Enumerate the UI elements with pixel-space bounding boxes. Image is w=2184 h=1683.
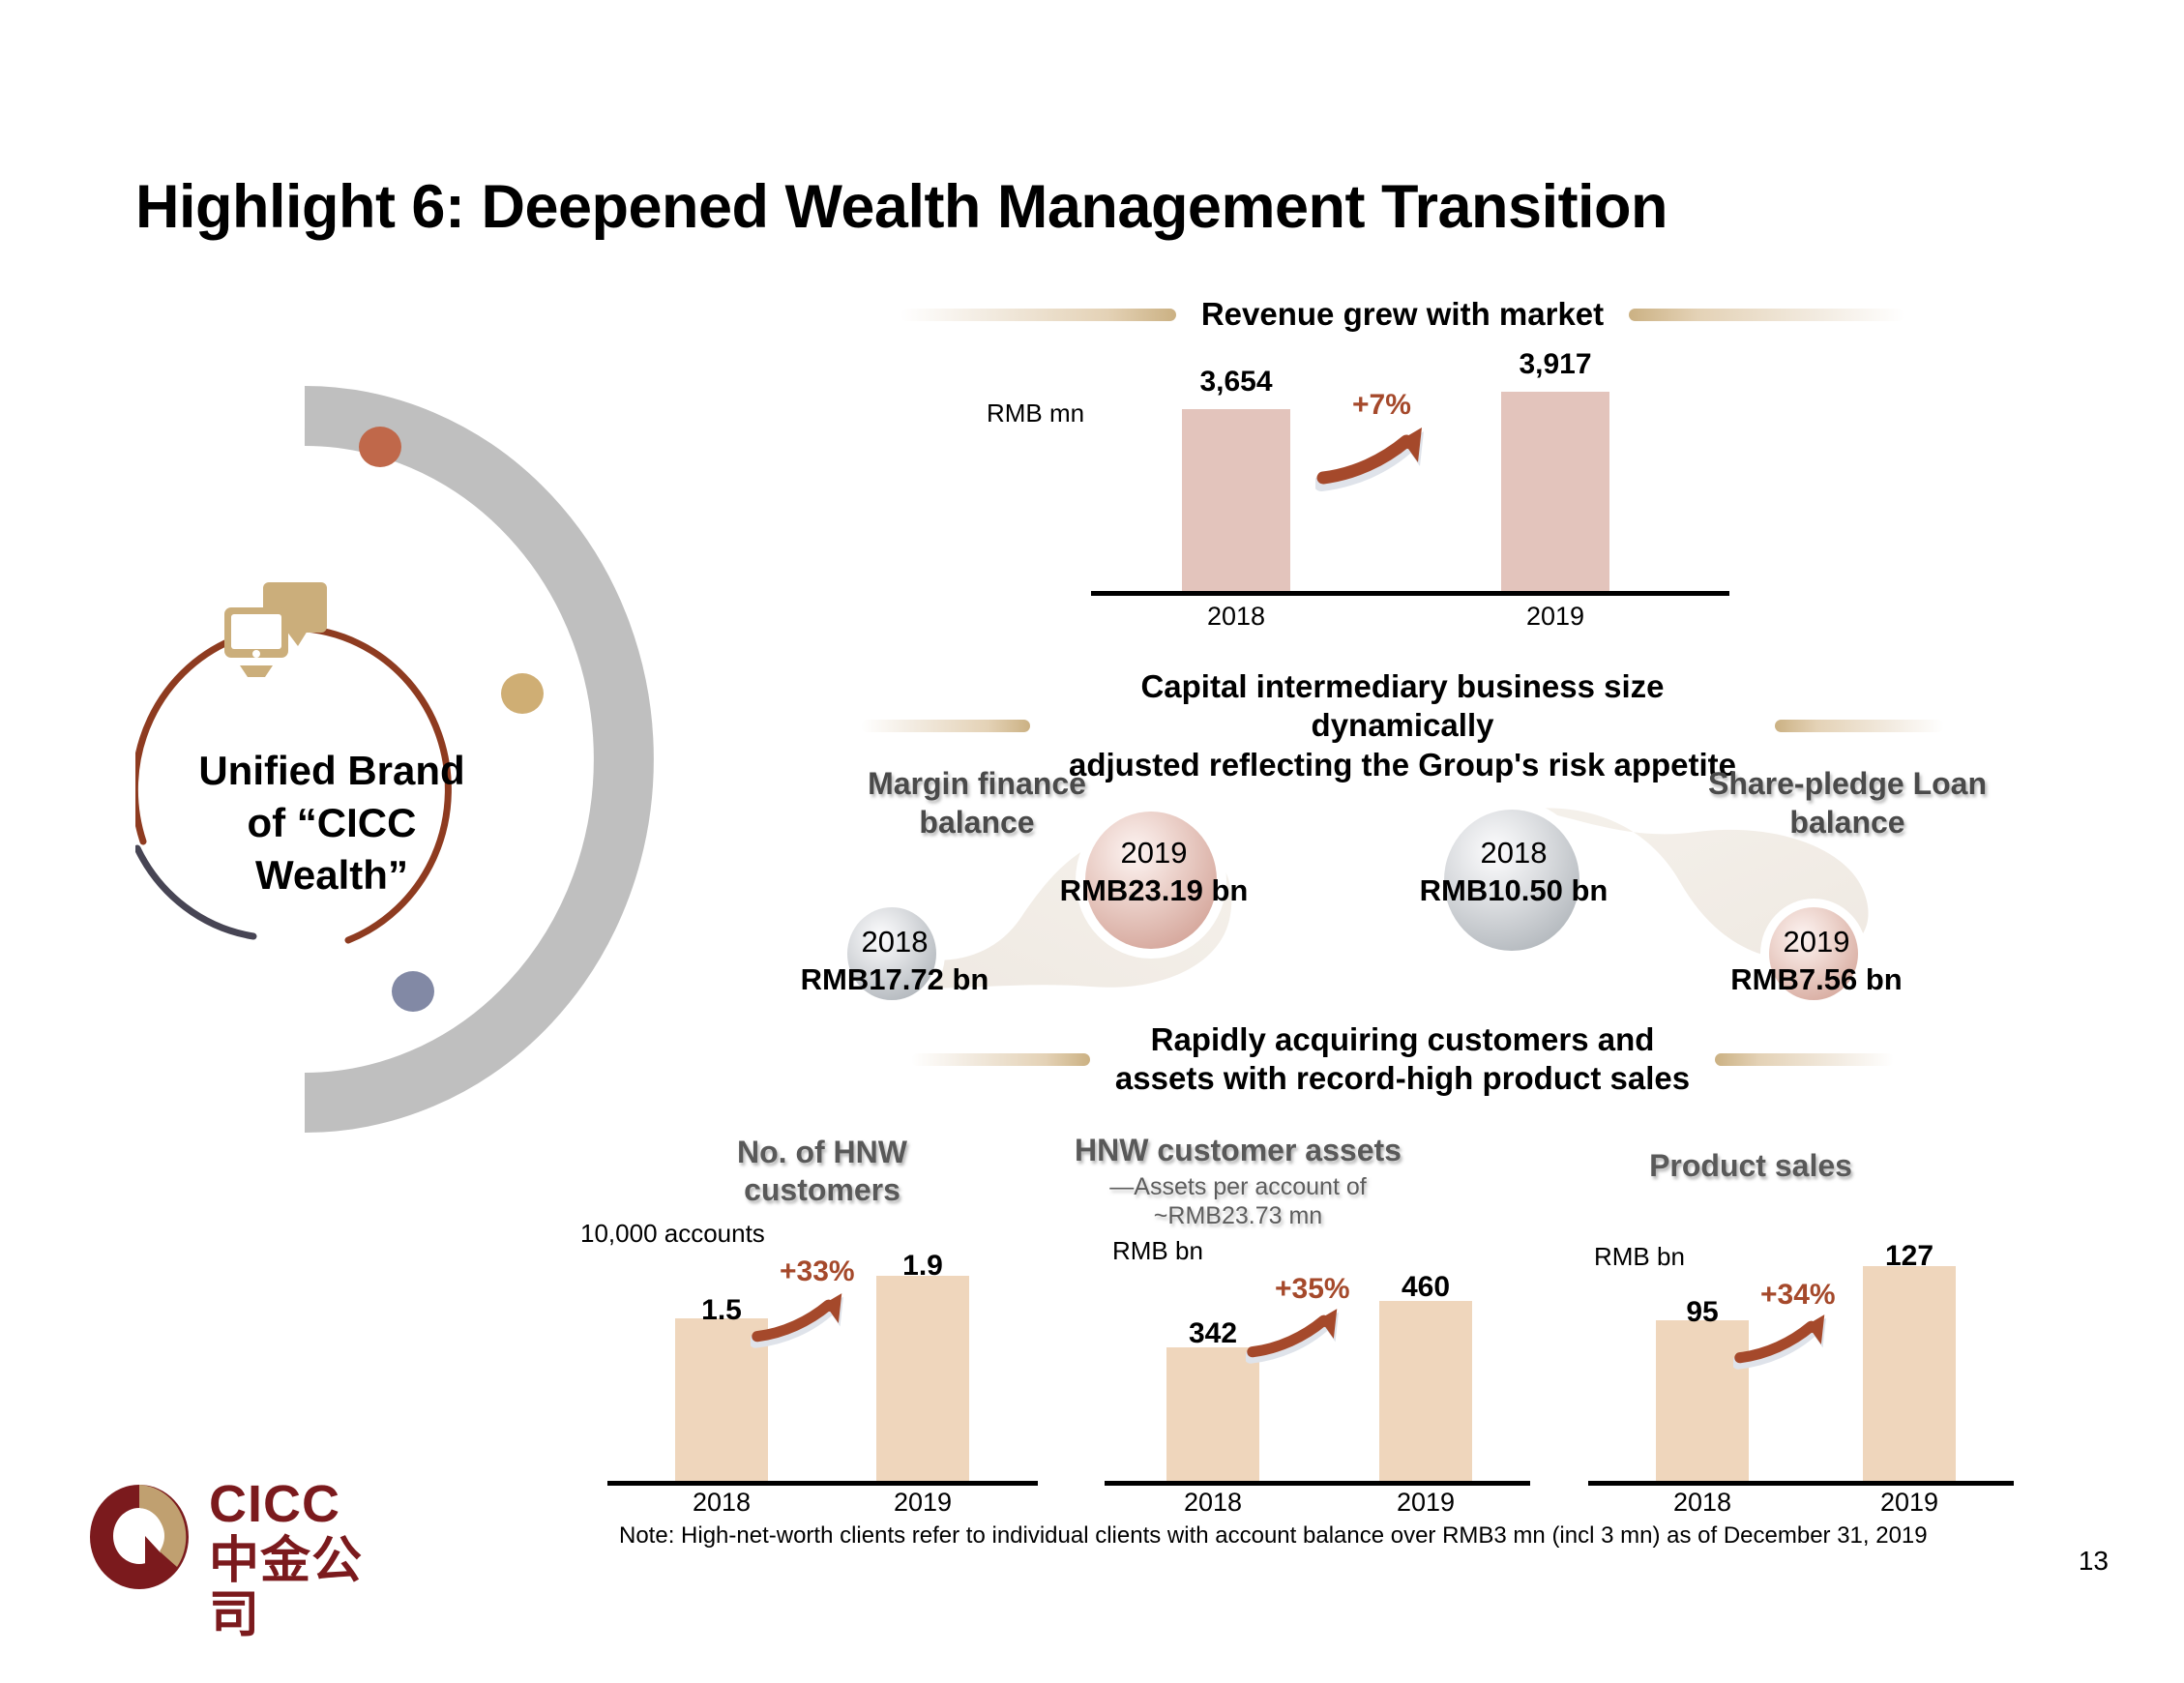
dumbbell-caption-margin-2019: 2019 RMB23.19 bn bbox=[994, 834, 1313, 909]
dumbbell-caption-pledge-2019: 2019 RMB7.56 bn bbox=[1657, 923, 1976, 998]
mini-title-hnw-customers: No. of HNW customers bbox=[677, 1134, 967, 1209]
dumbbell-value-pledge-2019: RMB7.56 bn bbox=[1657, 960, 1976, 998]
mini-subtitle-hnw-assets: —Assets per account of ~RMB23.73 mn bbox=[1054, 1172, 1422, 1230]
dumbbell-caption-margin-2018: 2018 RMB17.72 bn bbox=[735, 923, 1054, 998]
slide-canvas: Highlight 6: Deepened Wealth Management … bbox=[0, 0, 2184, 1683]
growth-arrow-icon-product-sales bbox=[1733, 1310, 1849, 1379]
bar-hnw-customers-2019 bbox=[876, 1276, 969, 1481]
axis-baseline-hnw-customers bbox=[607, 1481, 1038, 1486]
dumbbell-value-pledge-2018: RMB10.50 bn bbox=[1354, 871, 1673, 909]
page-title: Highlight 6: Deepened Wealth Management … bbox=[135, 172, 1668, 242]
cat-label-revenue-2019: 2019 bbox=[1478, 602, 1633, 632]
deco-bar-right-icon bbox=[1775, 720, 1944, 732]
section-title-customers: Rapidly acquiring customers and assets w… bbox=[1090, 1020, 1715, 1099]
dumbbell-year-pledge-2018: 2018 bbox=[1354, 834, 1673, 871]
chart-revenue: RMB mn 3,654 2018 +7% 3,917 2019 bbox=[977, 348, 1857, 638]
mini-title-product-sales: Product sales bbox=[1567, 1147, 1934, 1185]
section-header-revenue: Revenue grew with market bbox=[861, 295, 1944, 334]
footnote: Note: High-net-worth clients refer to in… bbox=[619, 1522, 1928, 1550]
growth-arrow-icon-hnw-assets bbox=[1246, 1304, 1362, 1373]
arc-dot-blue bbox=[392, 971, 434, 1012]
axis-baseline-revenue bbox=[1091, 591, 1729, 596]
section-header-customers: Rapidly acquiring customers and assets w… bbox=[861, 1020, 1944, 1099]
growth-label-revenue: +7% bbox=[1352, 389, 1411, 422]
cat-label-hnw-assets-2018: 2018 bbox=[1136, 1488, 1290, 1518]
cat-label-hnw-customers-2019: 2019 bbox=[845, 1488, 1000, 1518]
bar-value-hnw-assets-2019: 460 bbox=[1348, 1271, 1503, 1304]
dumbbell-value-margin-2019: RMB23.19 bn bbox=[994, 871, 1313, 909]
axis-baseline-hnw-assets bbox=[1105, 1481, 1530, 1486]
dumbbell-year-margin-2018: 2018 bbox=[735, 923, 1054, 960]
bar-revenue-2018 bbox=[1182, 409, 1290, 591]
page-number: 13 bbox=[2079, 1546, 2109, 1577]
cat-label-hnw-assets-2019: 2019 bbox=[1348, 1488, 1503, 1518]
axis-unit-product-sales: RMB bn bbox=[1594, 1242, 1685, 1272]
arc-dot-gold bbox=[501, 673, 544, 714]
deco-bar-left-icon bbox=[911, 1053, 1090, 1066]
mini-title-hnw-assets: HNW customer assets bbox=[1054, 1132, 1422, 1169]
bar-revenue-2019 bbox=[1501, 392, 1609, 591]
cat-label-product-sales-2019: 2019 bbox=[1832, 1488, 1987, 1518]
bar-value-product-sales-2019: 127 bbox=[1832, 1240, 1987, 1273]
monitor-display-icon bbox=[224, 582, 327, 677]
chart-hnw-assets: RMB bn 342 2018 +35% 460 2019 bbox=[1083, 1228, 1567, 1528]
axis-unit-revenue: RMB mn bbox=[987, 399, 1084, 428]
dumbbell-value-margin-2018: RMB17.72 bn bbox=[735, 960, 1054, 998]
dumbbell-caption-pledge-2018: 2018 RMB10.50 bn bbox=[1354, 834, 1673, 909]
cicc-logo-mark-icon bbox=[85, 1480, 193, 1598]
section-title-revenue: Revenue grew with market bbox=[1176, 295, 1629, 334]
dumbbell-year-margin-2019: 2019 bbox=[994, 834, 1313, 871]
cat-label-product-sales-2018: 2018 bbox=[1625, 1488, 1780, 1518]
bar-value-hnw-customers-2019: 1.9 bbox=[845, 1250, 1000, 1283]
growth-label-hnw-customers: +33% bbox=[780, 1255, 855, 1288]
chart-hnw-customers: 10,000 accounts 1.5 2018 +33% 1.9 2019 bbox=[561, 1209, 1045, 1528]
bar-value-revenue-2018: 3,654 bbox=[1159, 366, 1313, 399]
growth-arrow-icon-revenue bbox=[1315, 424, 1451, 501]
deco-bar-left-icon bbox=[900, 309, 1176, 321]
bar-value-revenue-2019: 3,917 bbox=[1478, 348, 1633, 381]
growth-label-hnw-assets: +35% bbox=[1275, 1273, 1350, 1306]
growth-label-product-sales: +34% bbox=[1760, 1279, 1836, 1312]
chart-product-sales: RMB bn 95 2018 +34% 127 2019 bbox=[1567, 1209, 2051, 1528]
bar-hnw-assets-2019 bbox=[1379, 1301, 1472, 1481]
arc-dot-red bbox=[359, 427, 401, 467]
axis-unit-hnw-customers: 10,000 accounts bbox=[580, 1219, 765, 1249]
cicc-logo: CICC 中金公司 bbox=[85, 1474, 395, 1609]
axis-unit-hnw-assets: RMB bn bbox=[1112, 1236, 1203, 1266]
brand-label: Unified Brand of “CICC Wealth” bbox=[172, 745, 491, 901]
deco-bar-right-icon bbox=[1715, 1053, 1894, 1066]
cat-label-hnw-customers-2018: 2018 bbox=[644, 1488, 799, 1518]
axis-baseline-product-sales bbox=[1588, 1481, 2014, 1486]
bar-product-sales-2019 bbox=[1863, 1266, 1956, 1481]
deco-bar-left-icon bbox=[861, 720, 1030, 732]
deco-bar-right-icon bbox=[1629, 309, 1904, 321]
dumbbell-year-pledge-2019: 2019 bbox=[1657, 923, 1976, 960]
dumbbell-margin-finance: Margin finance balance bbox=[832, 764, 1422, 1016]
dumbbell-share-pledge: Share-pledge Loan balance bbox=[1407, 764, 1997, 1016]
cicc-logo-wordmark: CICC bbox=[209, 1476, 340, 1532]
cat-label-revenue-2018: 2018 bbox=[1159, 602, 1313, 632]
cicc-logo-chinese: 中金公司 bbox=[209, 1534, 395, 1642]
growth-arrow-icon-hnw-customers bbox=[751, 1288, 867, 1358]
